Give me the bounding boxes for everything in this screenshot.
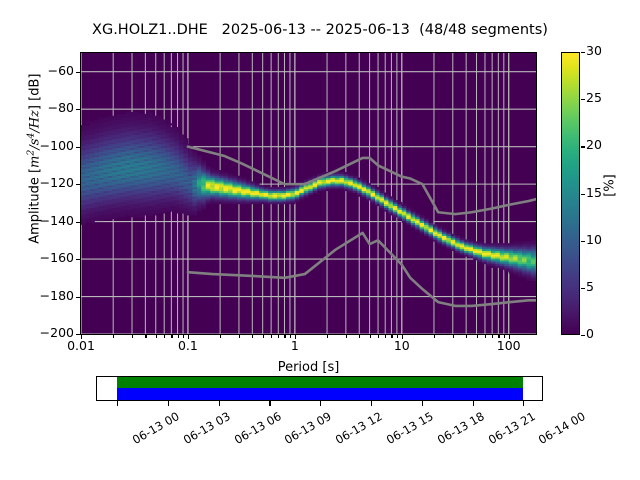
timeline-tick-mark	[422, 401, 423, 406]
y-tick-label: −160	[28, 250, 74, 265]
x-tick-mark-minor	[346, 335, 347, 338]
x-tick-mark-minor	[327, 335, 328, 338]
colorbar-tick-label: 25	[586, 90, 602, 105]
x-tick-mark-minor	[239, 335, 240, 338]
x-tick-label: 1	[291, 338, 299, 353]
timeline-tick-label: 06-13 18	[435, 409, 487, 447]
x-tick-mark-minor	[156, 335, 157, 338]
colorbar-tick-label: 30	[586, 43, 602, 58]
timeline-tick-mark	[117, 401, 118, 406]
x-tick-label: 0.01	[67, 338, 95, 353]
x-tick-mark-minor	[252, 335, 253, 338]
psd-histogram	[81, 112, 536, 283]
timeline-tick-label: 06-13 06	[232, 409, 284, 447]
timeline-tick-mark	[523, 401, 524, 406]
data-coverage-timeline[interactable]	[96, 376, 543, 401]
colorbar-tick-label: 10	[586, 232, 602, 247]
page-title: XG.HOLZ1..DHE 2025-06-13 -- 2025-06-13 (…	[0, 22, 640, 38]
timeline-tick-label: 06-14 00	[536, 409, 588, 447]
colorbar-tick-label: 15	[586, 185, 602, 200]
x-axis-label: Period [s]	[80, 360, 537, 375]
timeline-tick-mark	[371, 401, 372, 406]
x-tick-label: 100	[497, 338, 521, 353]
colorbar-tick-label: 5	[586, 279, 594, 294]
ppsd-plot-area[interactable]	[80, 52, 537, 335]
colorbar-tick-label: 20	[586, 137, 602, 152]
x-tick-mark-minor	[359, 335, 360, 338]
x-tick-mark-minor	[453, 335, 454, 338]
ppsd-canvas	[81, 53, 536, 334]
x-tick-mark-minor	[434, 335, 435, 338]
colorbar-tick-label: 0	[586, 326, 594, 341]
x-tick-mark-minor	[385, 335, 386, 338]
y-tick-label: −120	[28, 175, 74, 190]
x-tick-mark-minor	[220, 335, 221, 338]
colorbar-tick-mark	[581, 99, 585, 100]
timeline-tick-mark	[320, 401, 321, 406]
x-tick-mark-minor	[164, 335, 165, 338]
y-tick-label: −80	[28, 100, 74, 115]
timeline-tick-mark	[473, 401, 474, 406]
x-tick-mark-minor	[271, 335, 272, 338]
timeline-tick-mark	[269, 401, 270, 406]
colorbar-tick-mark	[581, 288, 585, 289]
x-tick-mark-minor	[171, 335, 172, 338]
x-tick-mark-minor	[492, 335, 493, 338]
timeline-tick-mark	[219, 401, 220, 406]
timeline-tick-label: 06-13 21	[485, 409, 537, 447]
y-tick-label: −180	[28, 288, 74, 303]
x-tick-mark-minor	[378, 335, 379, 338]
y-tick-label: −100	[28, 138, 74, 153]
colorbar-tick-mark	[581, 52, 585, 53]
colorbar-tick-mark	[581, 335, 585, 336]
y-axis-unit-m: m	[28, 156, 43, 168]
colorbar-tick-mark	[581, 146, 585, 147]
x-tick-mark-minor	[284, 335, 285, 338]
timeline-tick-mark	[168, 401, 169, 406]
x-tick-mark-minor	[278, 335, 279, 338]
x-tick-label: 0.1	[178, 338, 198, 353]
coverage-bar-blue	[117, 388, 523, 400]
y-tick-label: −140	[28, 213, 74, 228]
peterson-noise-models	[188, 147, 536, 306]
timeline-tick-label: 06-13 00	[130, 409, 182, 447]
colorbar-label: [%]	[603, 126, 618, 246]
x-tick-mark-minor	[263, 335, 264, 338]
x-tick-mark-minor	[145, 335, 146, 338]
x-tick-mark-minor	[477, 335, 478, 338]
x-tick-mark-minor	[370, 335, 371, 338]
y-tick-label: −60	[28, 63, 74, 78]
colorbar-tick-mark	[581, 194, 585, 195]
x-tick-mark-minor	[485, 335, 486, 338]
colorbar[interactable]	[561, 52, 580, 335]
x-tick-mark-minor	[466, 335, 467, 338]
timeline-tick-label: 06-13 09	[282, 409, 334, 447]
coverage-bar-green	[117, 377, 523, 388]
timeline-tick-label: 06-13 15	[384, 409, 436, 447]
timeline-tick-label: 06-13 03	[181, 409, 233, 447]
colorbar-tick-mark	[581, 241, 585, 242]
timeline-tick-label: 06-13 12	[333, 409, 385, 447]
x-tick-mark-minor	[113, 335, 114, 338]
x-tick-mark-minor	[391, 335, 392, 338]
x-tick-label: 10	[394, 338, 410, 353]
x-tick-mark-minor	[132, 335, 133, 338]
